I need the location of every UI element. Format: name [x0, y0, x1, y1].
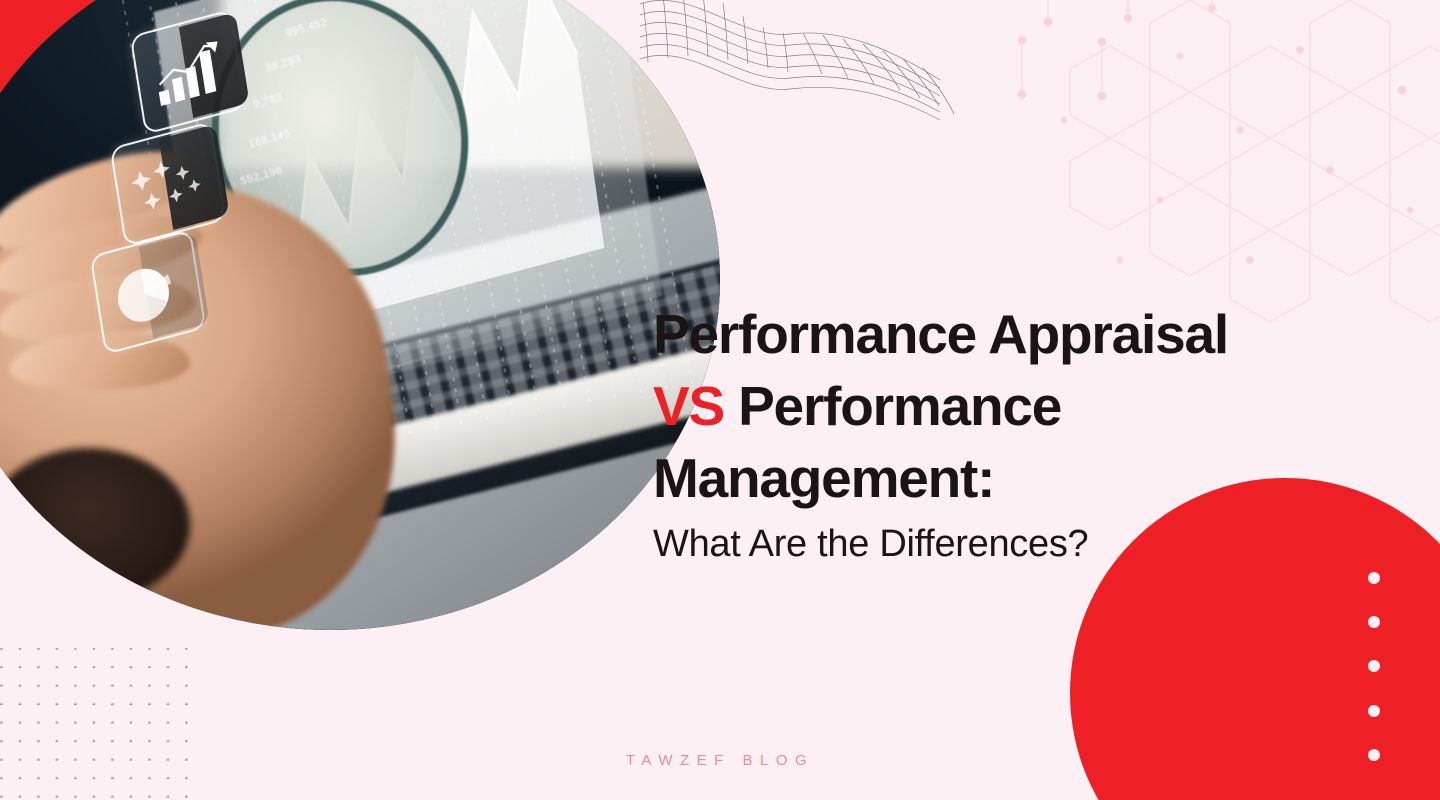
page-subtitle: What Are the Differences? [653, 520, 1088, 568]
title-line-2-rest: Performance [724, 375, 1061, 437]
blog-banner: 995,452 38,283 9,782 188,145 552,198 313… [0, 0, 1440, 800]
vs-word: VS [653, 375, 724, 437]
title-line-3: Management: [653, 442, 1383, 514]
title-line-2: VS Performance [653, 370, 1383, 442]
circle-dot-1 [1368, 572, 1380, 584]
circle-dot-4 [1368, 705, 1380, 717]
footer-brand: TAWZEF BLOG [0, 752, 1440, 769]
circle-dot-2 [1368, 616, 1380, 628]
page-title: Performance Appraisal VS Performance Man… [653, 298, 1383, 514]
title-line-1: Performance Appraisal [653, 298, 1383, 370]
hero-image: 995,452 38,283 9,782 188,145 552,198 313… [0, 0, 720, 630]
circle-dot-3 [1368, 660, 1380, 672]
dot-grid-pattern-decoration [0, 610, 270, 800]
